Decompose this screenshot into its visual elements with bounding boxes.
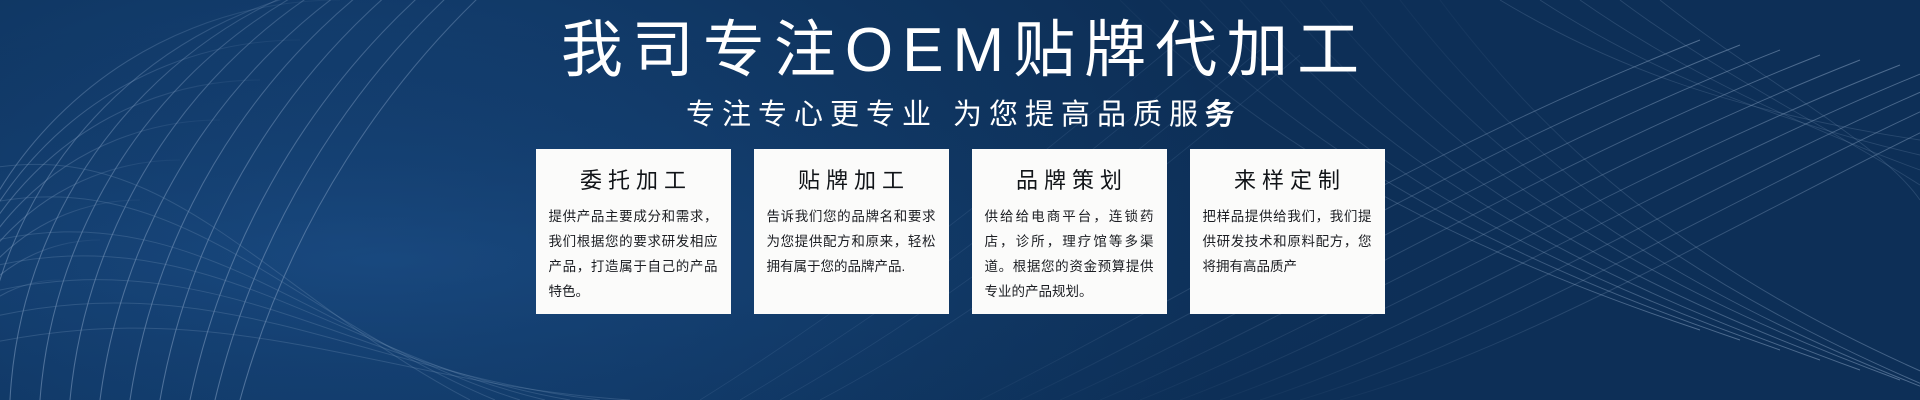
card-title: 品牌策划	[1010, 163, 1128, 195]
page-subtitle: 专注专心更专业 为您提高品质服务	[679, 91, 1241, 133]
card-title: 来样定制	[1228, 163, 1346, 195]
service-card-entrusted-processing[interactable]: 委托加工 提供产品主要成分和需求，我们根据您的要求研发相应产品，打造属于自己的产…	[536, 149, 731, 314]
service-card-list: 委托加工 提供产品主要成分和需求，我们根据您的要求研发相应产品，打造属于自己的产…	[536, 149, 1385, 314]
card-body: 告诉我们您的品牌名和要求为您提供配方和原来，轻松拥有属于您的品牌产品.	[767, 205, 936, 280]
promo-banner: 我司专注OEM贴牌代加工 专注专心更专业 为您提高品质服务 委托加工 提供产品主…	[0, 0, 1920, 400]
service-card-sample-customization[interactable]: 来样定制 把样品提供给我们，我们提供研发技术和原料配方，您将拥有高品质产	[1190, 149, 1385, 314]
card-body: 供给给电商平台，连锁药店，诊所，理疗馆等多渠道。根据您的资金预算提供专业的产品规…	[985, 205, 1154, 305]
service-card-brand-planning[interactable]: 品牌策划 供给给电商平台，连锁药店，诊所，理疗馆等多渠道。根据您的资金预算提供专…	[972, 149, 1167, 314]
card-body: 提供产品主要成分和需求，我们根据您的要求研发相应产品，打造属于自己的产品特色。	[549, 205, 718, 305]
subtitle-emphasis-text: 务	[1205, 99, 1241, 131]
page-title: 我司专注OEM贴牌代加工	[552, 14, 1368, 87]
banner-content: 我司专注OEM贴牌代加工 专注专心更专业 为您提高品质服务 委托加工 提供产品主…	[0, 0, 1920, 400]
card-title: 贴牌加工	[792, 163, 910, 195]
service-card-oem-processing[interactable]: 贴牌加工 告诉我们您的品牌名和要求为您提供配方和原来，轻松拥有属于您的品牌产品.	[754, 149, 949, 314]
card-body: 把样品提供给我们，我们提供研发技术和原料配方，您将拥有高品质产	[1203, 205, 1372, 280]
card-title: 委托加工	[574, 163, 692, 195]
subtitle-main-text: 专注专心更专业 为您提高品质服	[686, 99, 1205, 131]
